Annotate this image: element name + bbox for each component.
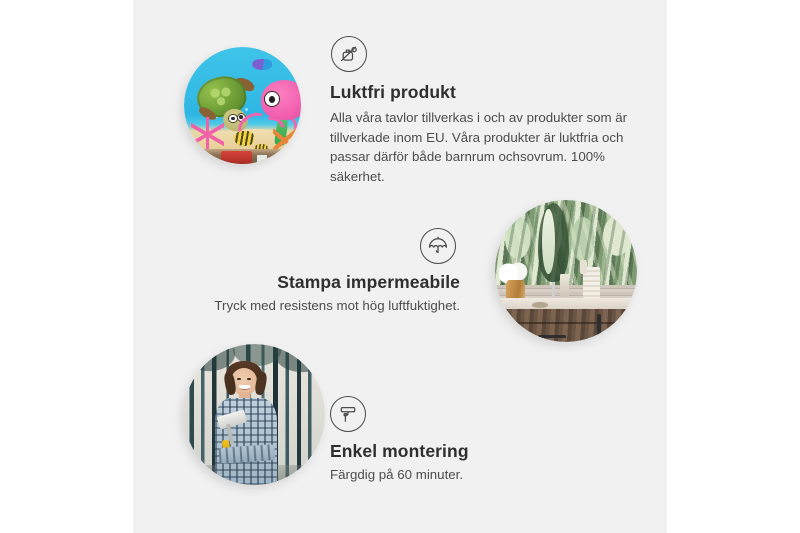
cabinet-handle — [597, 314, 601, 337]
soap-dish-shape — [532, 302, 548, 308]
product-photo-bathroom-image — [495, 200, 637, 342]
soap-bottle-shape — [560, 274, 569, 297]
feature-description: Tryck med resistens mot hög luftfuktighe… — [190, 296, 460, 316]
umbrella-icon — [420, 228, 456, 264]
product-photo-painter-image — [184, 344, 325, 485]
poster-canvas: Luktfri produkt Alla våra tavlor tillver… — [0, 0, 800, 533]
feature-easy-mount: Enkel montering Färgdig på 60 minuter. — [330, 396, 610, 485]
feature-waterproof: Stampa impermeabile Tryck med resistens … — [190, 228, 460, 316]
soap-dispenser-shape — [580, 260, 587, 274]
cabinet-seam — [495, 322, 637, 324]
product-photo-ocean-image — [184, 47, 301, 164]
feature-title: Luktfri produkt — [330, 82, 630, 103]
cabinet-handle — [538, 335, 566, 339]
blue-fish-shape — [252, 59, 272, 71]
room-furniture-block — [257, 155, 268, 164]
feature-description: Färgdig på 60 minuter. — [330, 465, 610, 485]
yellow-fish-shape — [234, 131, 254, 146]
paint-roller-icon — [330, 396, 366, 432]
person-arm — [219, 444, 276, 463]
no-odor-perfume-icon — [331, 36, 367, 72]
feature-odorless: Luktfri produkt Alla våra tavlor tillver… — [330, 36, 630, 186]
product-photo-ocean[interactable] — [184, 47, 301, 164]
pink-coral-shape — [191, 117, 224, 152]
product-photo-bathroom[interactable] — [495, 200, 637, 342]
feature-description: Alla våra tavlor tillverkas i och av pro… — [330, 108, 630, 186]
feature-title: Stampa impermeabile — [190, 272, 460, 293]
feature-title: Enkel montering — [330, 441, 610, 462]
product-photo-painter[interactable] — [184, 344, 325, 485]
faucet-shape — [552, 282, 555, 299]
wood-cabinet — [495, 309, 637, 342]
leaf-vein-shape — [542, 209, 555, 274]
bubble-icon — [245, 108, 248, 111]
room-furniture-block — [221, 151, 251, 164]
